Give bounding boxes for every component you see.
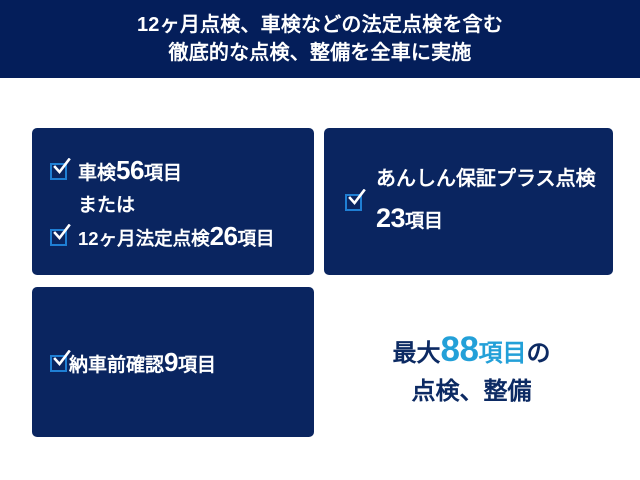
summary-total-items: 最大88項目の 点検、整備 bbox=[330, 322, 613, 412]
summary-total-number: 88 bbox=[441, 330, 479, 369]
warranty-plus-unit: 項目 bbox=[405, 211, 443, 232]
inspection-item-or: または bbox=[50, 187, 306, 220]
inspection-item-shaken-label: 車検56項目 bbox=[78, 155, 182, 186]
legal-inspection-count: 26 bbox=[210, 221, 238, 251]
inspection-or-label: または bbox=[78, 190, 135, 217]
warranty-plus-title: あんしん保証プラス点検 bbox=[376, 164, 596, 194]
warranty-checkbox-wrap bbox=[345, 192, 364, 211]
inspection-item-12month: 12ヶ月法定点検26項目 bbox=[50, 220, 306, 253]
warranty-text-stack: あんしん保証プラス点検 23項目 bbox=[376, 164, 596, 239]
summary-line-1: 最大88項目の bbox=[393, 325, 551, 375]
pre-delivery-label: 納車前確認9項目 bbox=[69, 347, 216, 378]
pre-delivery-unit: 項目 bbox=[178, 355, 216, 376]
card-vehicle-inspection-rows: 車検56項目 または 12ヶ月法定点検26項目 bbox=[50, 154, 306, 253]
shaken-count: 56 bbox=[116, 155, 144, 185]
card-vehicle-inspection: 車検56項目 または 12ヶ月法定点検26項目 bbox=[32, 128, 314, 275]
pre-delivery-count: 9 bbox=[164, 347, 178, 377]
card-warranty-plus-inner: あんしん保証プラス点検 23項目 bbox=[345, 128, 607, 275]
warranty-plus-count: 23 bbox=[376, 203, 405, 233]
checkbox-checked-icon bbox=[345, 192, 364, 211]
shaken-unit: 項目 bbox=[144, 163, 182, 184]
shaken-text: 車検 bbox=[78, 163, 116, 184]
warranty-plus-count-line: 23項目 bbox=[376, 198, 596, 239]
summary-particle: の bbox=[526, 340, 550, 367]
card-pre-delivery-check: 納車前確認9項目 bbox=[32, 287, 314, 437]
card-warranty-plus-inspection: あんしん保証プラス点検 23項目 bbox=[324, 128, 613, 275]
header-line-2: 徹底的な点検、整備を全車に実施 bbox=[169, 39, 472, 67]
checkbox-checked-icon bbox=[50, 161, 69, 180]
header-banner: 12ヶ月点検、車検などの法定点検を含む 徹底的な点検、整備を全車に実施 bbox=[0, 0, 640, 78]
summary-line-2: 点検、整備 bbox=[412, 375, 532, 409]
legal-inspection-text: 12ヶ月法定点検 bbox=[78, 228, 210, 249]
inspection-item-shaken: 車検56項目 bbox=[50, 154, 306, 187]
summary-unit: 項目 bbox=[478, 340, 526, 367]
card-pre-delivery-inner: 納車前確認9項目 bbox=[50, 287, 306, 437]
summary-prefix: 最大 bbox=[393, 340, 441, 367]
legal-inspection-unit: 項目 bbox=[238, 228, 275, 249]
inspection-item-12month-label: 12ヶ月法定点検26項目 bbox=[78, 221, 275, 252]
header-line-1: 12ヶ月点検、車検などの法定点検を含む bbox=[137, 11, 503, 39]
checkbox-checked-icon bbox=[50, 353, 69, 372]
checkbox-checked-icon bbox=[50, 227, 69, 246]
pre-delivery-text: 納車前確認 bbox=[69, 355, 164, 376]
